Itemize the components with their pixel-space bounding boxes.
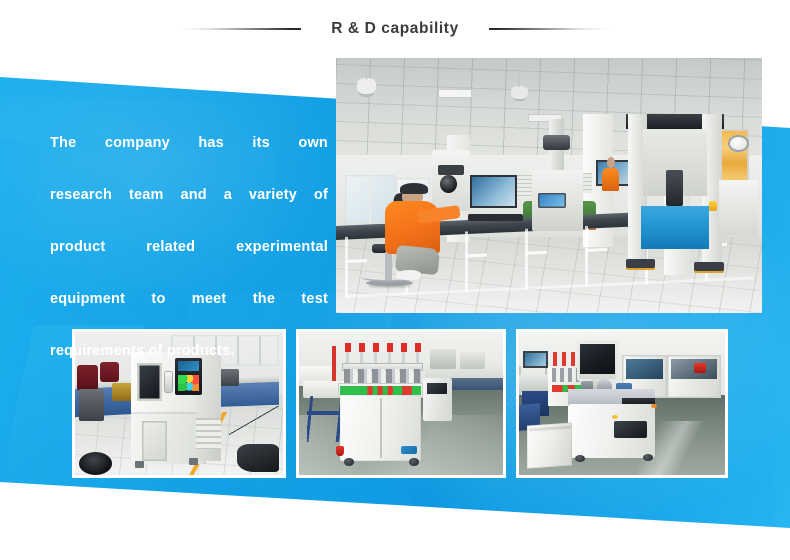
page-header: R & D capability (0, 0, 790, 58)
right-instrument-cabinet (719, 180, 757, 236)
ceiling-light-icon (438, 89, 472, 98)
machine-monitor (577, 341, 618, 381)
blue-table-frame (307, 396, 344, 442)
automated-inspection-machine-photo (516, 329, 728, 478)
keyboard (468, 214, 523, 222)
chamber-vent-grille (196, 418, 221, 449)
chamber-lower-door (142, 421, 167, 461)
chamber-foot (189, 458, 197, 465)
red-valve-row (344, 343, 422, 363)
rd-capability-page: R & D capability The company has its own… (0, 0, 790, 560)
machine-access-window (614, 421, 647, 438)
testing-machine-foot (626, 259, 656, 268)
testing-machine-foot (694, 262, 724, 271)
inspection-machine-scene (519, 332, 725, 475)
chamber-view-window (137, 363, 162, 400)
microscope-arm (438, 165, 464, 175)
white-cart (527, 422, 572, 468)
red-equipment (694, 363, 706, 373)
background-machine (100, 362, 119, 382)
adjacent-control-cabinet (423, 378, 452, 421)
hardness-tester-screen (538, 193, 566, 208)
testing-machine-blue-base (641, 206, 709, 249)
rig-indicator-buttons (340, 386, 422, 395)
background-machine (460, 352, 484, 369)
machine-caster-wheel (575, 455, 585, 462)
hardness-tester-head (543, 135, 571, 150)
power-cable (229, 406, 279, 437)
description-line-5: requirements of products. (50, 338, 328, 364)
header-rule-left-icon (181, 28, 301, 30)
left-monitor (523, 351, 548, 368)
background-machine (77, 365, 98, 391)
technician-cap (400, 183, 428, 194)
description-line-4: equipment to meet the test (50, 286, 328, 338)
workstation-monitor (470, 175, 517, 208)
header-rule-right-icon (489, 28, 609, 30)
chamber-indicator-lights (178, 375, 199, 391)
ceiling-fan-icon (511, 86, 528, 99)
description-line-1: The company has its own (50, 130, 328, 182)
machine-caster-wheel (643, 454, 653, 461)
description-line-2: research team and a variety of (50, 182, 328, 234)
page-title: R & D capability (301, 20, 489, 38)
status-indicator (651, 404, 657, 408)
red-lever (336, 446, 344, 456)
chamber-door-handle (165, 372, 171, 392)
laboratory-scene (336, 58, 762, 313)
ceiling-fan-icon (357, 78, 376, 93)
cabinet-interior (626, 359, 663, 379)
background-machine (430, 349, 457, 369)
description-line-3: product related experimental (50, 234, 328, 286)
chamber-foot (135, 461, 143, 468)
floor-equipment-bag (237, 444, 279, 473)
technician-shoe (396, 270, 422, 280)
red-pipe (332, 346, 336, 380)
testing-machine-grip (666, 170, 683, 206)
capability-description: The company has its own research team an… (50, 130, 328, 364)
background-machine (79, 389, 104, 420)
manufacturer-label (401, 446, 417, 453)
laboratory-overview-photo (336, 58, 762, 313)
test-rig-scene (299, 332, 503, 475)
second-technician (602, 168, 619, 191)
testing-machine-control-button (709, 201, 718, 211)
